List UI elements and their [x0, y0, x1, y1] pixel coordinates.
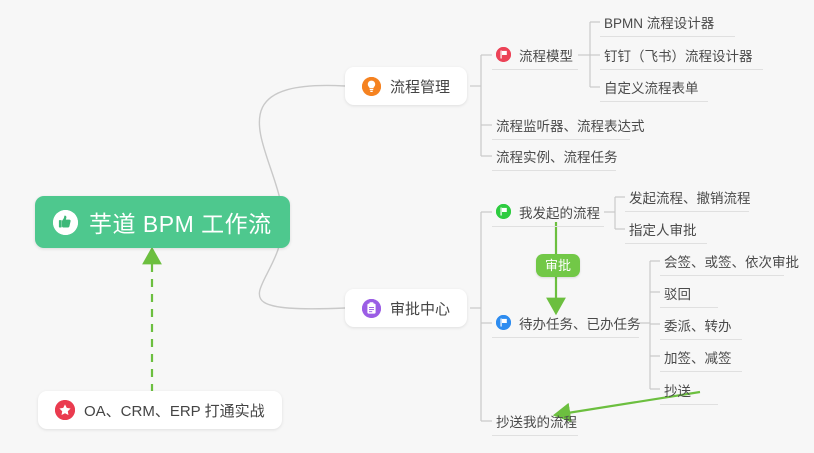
leaf-node-assigned-approval[interactable]: 指定人审批 — [625, 214, 707, 244]
leaf-label: 抄送 — [664, 380, 691, 400]
leaf-label: 委派、转办 — [664, 315, 732, 335]
leaf-node-cc-to-me[interactable]: 抄送我的流程 — [492, 406, 578, 436]
leaf-node-carbon-copy[interactable]: 抄送 — [660, 375, 718, 405]
approval-badge: 审批 — [536, 254, 580, 277]
leaf-node-bpmn-designer[interactable]: BPMN 流程设计器 — [600, 7, 735, 37]
branch-label: 流程管理 — [390, 76, 450, 97]
lightbulb-icon — [362, 77, 381, 96]
leaf-label: 待办任务、已办任务 — [519, 313, 641, 333]
leaf-node-delegate-transfer[interactable]: 委派、转办 — [660, 310, 742, 340]
branch-node-process-management[interactable]: 流程管理 — [345, 67, 467, 105]
leaf-label: 我发起的流程 — [519, 202, 600, 222]
clipboard-icon — [362, 299, 381, 318]
leaf-node-process-model[interactable]: 流程模型 — [492, 40, 578, 70]
leaf-label: 发起流程、撤销流程 — [629, 187, 751, 207]
branch-label: 审批中心 — [390, 298, 450, 319]
leaf-node-listener-expression[interactable]: 流程监听器、流程表达式 — [492, 110, 630, 140]
leaf-label: 自定义流程表单 — [604, 77, 699, 97]
leaf-label: 流程监听器、流程表达式 — [496, 115, 645, 135]
flag-icon-red — [496, 47, 511, 62]
leaf-label: 驳回 — [664, 283, 691, 303]
floating-node-integration[interactable]: OA、CRM、ERP 打通实战 — [38, 391, 282, 429]
leaf-label: 加签、减签 — [664, 347, 732, 367]
flag-icon-green — [496, 204, 511, 219]
flag-icon-blue — [496, 315, 511, 330]
leaf-label: 抄送我的流程 — [496, 411, 577, 431]
mindmap-canvas: 芋道 BPM 工作流 流程管理 流程模型 BPMN 流程设计器 钉钉（飞书）流程 — [0, 0, 814, 453]
leaf-label: 钉钉（飞书）流程设计器 — [604, 45, 753, 65]
leaf-node-start-cancel-process[interactable]: 发起流程、撤销流程 — [625, 182, 749, 212]
leaf-node-todo-done-tasks[interactable]: 待办任务、已办任务 — [492, 308, 639, 338]
leaf-label: BPMN 流程设计器 — [604, 12, 714, 32]
branch-node-approval-center[interactable]: 审批中心 — [345, 289, 467, 327]
leaf-node-dingtalk-designer[interactable]: 钉钉（飞书）流程设计器 — [600, 40, 763, 70]
floating-node-label: OA、CRM、ERP 打通实战 — [84, 400, 265, 421]
leaf-label: 流程模型 — [519, 45, 573, 65]
leaf-label: 指定人审批 — [629, 219, 697, 239]
leaf-node-custom-form[interactable]: 自定义流程表单 — [600, 72, 708, 102]
leaf-node-add-remove-sign[interactable]: 加签、减签 — [660, 342, 742, 372]
root-label: 芋道 BPM 工作流 — [89, 205, 272, 239]
leaf-label: 流程实例、流程任务 — [496, 146, 618, 166]
root-node[interactable]: 芋道 BPM 工作流 — [35, 196, 290, 248]
leaf-node-reject[interactable]: 驳回 — [660, 278, 718, 308]
star-icon — [55, 400, 75, 420]
leaf-node-countersign[interactable]: 会签、或签、依次审批 — [660, 246, 784, 276]
leaf-label: 会签、或签、依次审批 — [664, 251, 799, 271]
thumbs-up-icon — [53, 210, 78, 235]
leaf-node-my-initiated-process[interactable]: 我发起的流程 — [492, 197, 604, 227]
leaf-node-instance-task[interactable]: 流程实例、流程任务 — [492, 141, 616, 171]
